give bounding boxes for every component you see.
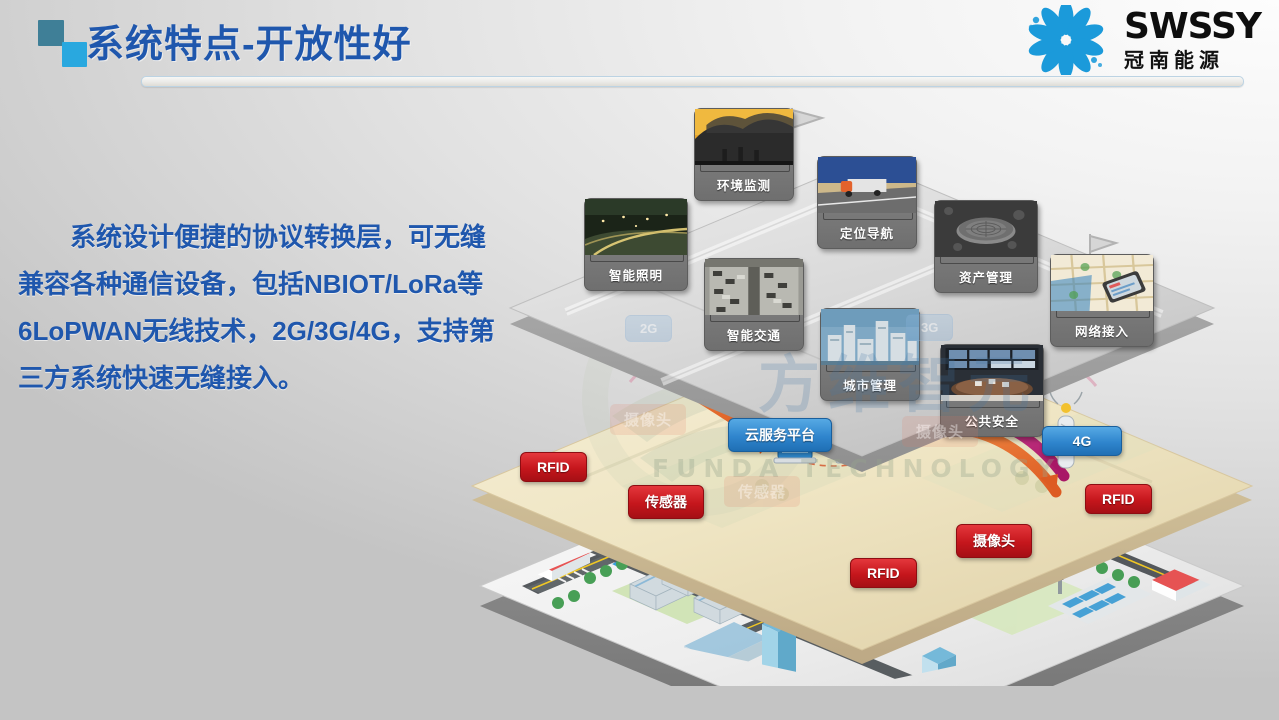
- thumb-smokestacks-pollution: [700, 114, 790, 172]
- thumb-manhole-cover: [940, 206, 1034, 264]
- app-card-label: 网络接入: [1056, 318, 1148, 344]
- badge-2g: 2G: [625, 315, 672, 342]
- water-droplet-burst-logo-icon: [1018, 5, 1114, 75]
- thumb-truck-on-highway: [823, 162, 913, 220]
- slide-header: 系统特点-开放性好: [0, 0, 1279, 92]
- badge-sensor[interactable]: 传感器: [628, 485, 704, 519]
- badge-rfid-2[interactable]: RFID: [850, 558, 917, 588]
- badge-camera[interactable]: 摄像头: [956, 524, 1032, 558]
- faded-label-sensor: 传感器: [724, 476, 800, 507]
- blue-square-icon: [62, 42, 87, 67]
- faded-label-camera-left: 摄像头: [610, 404, 686, 435]
- thumb-traffic-jam-aerial: [710, 264, 800, 322]
- logo-text-block: SWSSY 冠南能源: [1124, 9, 1261, 71]
- teal-square-icon: [38, 20, 64, 46]
- watermark-chinese: 方维智元: [758, 334, 1038, 424]
- app-card-environment-monitoring[interactable]: 环境监测: [694, 108, 794, 201]
- badge-rfid-1[interactable]: RFID: [520, 452, 587, 482]
- app-card-label: 智能照明: [590, 262, 682, 288]
- app-card-asset-management[interactable]: 资产管理: [934, 200, 1038, 293]
- slide-root: 系统特点-开放性好: [0, 0, 1279, 720]
- badge-rfid-3[interactable]: RFID: [1085, 484, 1152, 514]
- watermark-latin: FUNDA TECHNOLOGY: [652, 454, 1061, 483]
- body-paragraph: 系统设计便捷的协议转换层，可无缝兼容各种通信设备，包括NBIOT/LoRa等6L…: [18, 214, 498, 402]
- page-title: 系统特点-开放性好: [86, 13, 412, 68]
- thumb-night-city-highway: [590, 204, 684, 262]
- app-card-label: 定位导航: [823, 220, 911, 246]
- app-card-label: 资产管理: [940, 264, 1032, 290]
- logo-wordmark: SWSSY: [1124, 9, 1261, 45]
- badge-4g[interactable]: 4G: [1042, 426, 1122, 456]
- company-logo: SWSSY 冠南能源: [1018, 4, 1261, 76]
- app-card-positioning-navigation[interactable]: 定位导航: [817, 156, 917, 249]
- logo-chinese-name: 冠南能源: [1124, 51, 1261, 71]
- thumb-map-handheld-device: [1056, 260, 1150, 318]
- smart-city-illustration: 智能照明 环境监测: [462, 86, 1272, 686]
- faded-label-camera-right: 摄像头: [902, 416, 978, 447]
- badge-cloud-service-platform[interactable]: 云服务平台: [728, 418, 832, 452]
- app-card-smart-lighting[interactable]: 智能照明: [584, 198, 688, 291]
- app-card-network-access[interactable]: 网络接入: [1050, 254, 1154, 347]
- app-card-label: 环境监测: [700, 172, 788, 198]
